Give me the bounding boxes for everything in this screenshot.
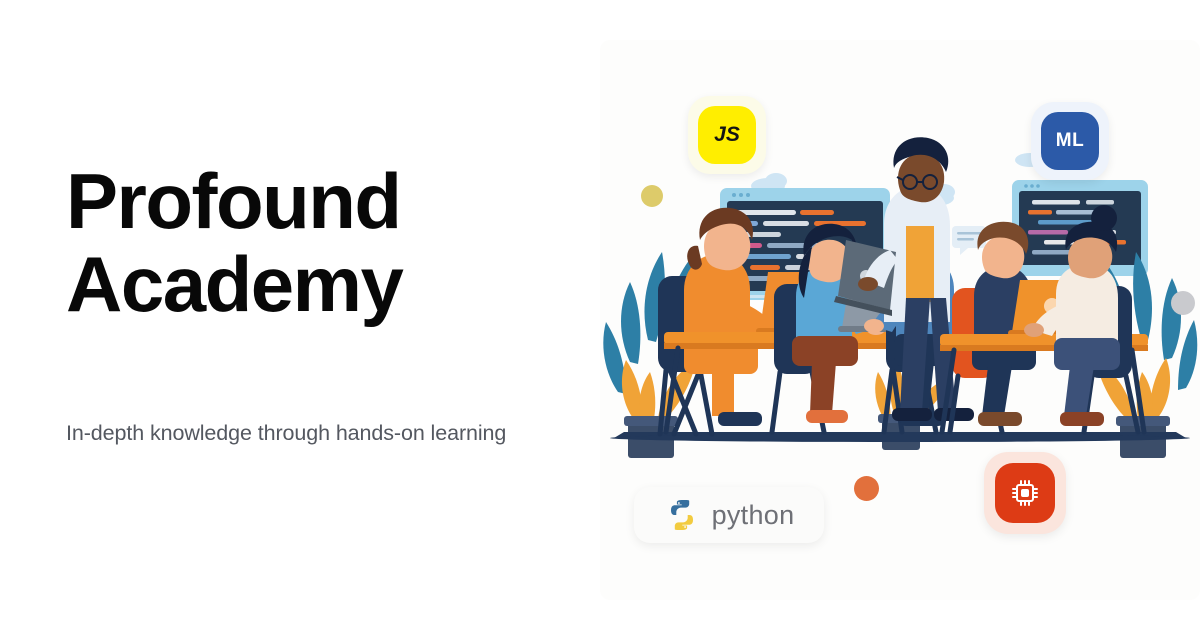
python-badge[interactable]: python xyxy=(634,487,824,543)
yellow-dot xyxy=(641,185,663,207)
chip-badge[interactable] xyxy=(984,452,1066,534)
python-badge-label: python xyxy=(712,500,795,531)
page-tagline: In-depth knowledge through hands-on lear… xyxy=(66,418,536,449)
javascript-badge[interactable]: JS xyxy=(688,96,766,174)
cpu-chip-icon xyxy=(1009,477,1041,509)
orange-dot xyxy=(854,476,879,501)
share-card: Profound Academy In-depth knowledge thro… xyxy=(0,0,1200,630)
gray-dot xyxy=(1171,291,1195,315)
text-panel: Profound Academy In-depth knowledge thro… xyxy=(0,0,600,630)
page-title: Profound Academy xyxy=(66,160,526,325)
person-instructor xyxy=(834,137,974,421)
machine-learning-badge-label: ML xyxy=(1041,112,1099,170)
python-logo-icon xyxy=(664,497,700,533)
illustration-panel: JS ML python xyxy=(600,0,1200,630)
illustration-canvas: JS ML python xyxy=(600,40,1200,600)
javascript-badge-label: JS xyxy=(698,106,756,164)
machine-learning-badge[interactable]: ML xyxy=(1031,102,1109,180)
